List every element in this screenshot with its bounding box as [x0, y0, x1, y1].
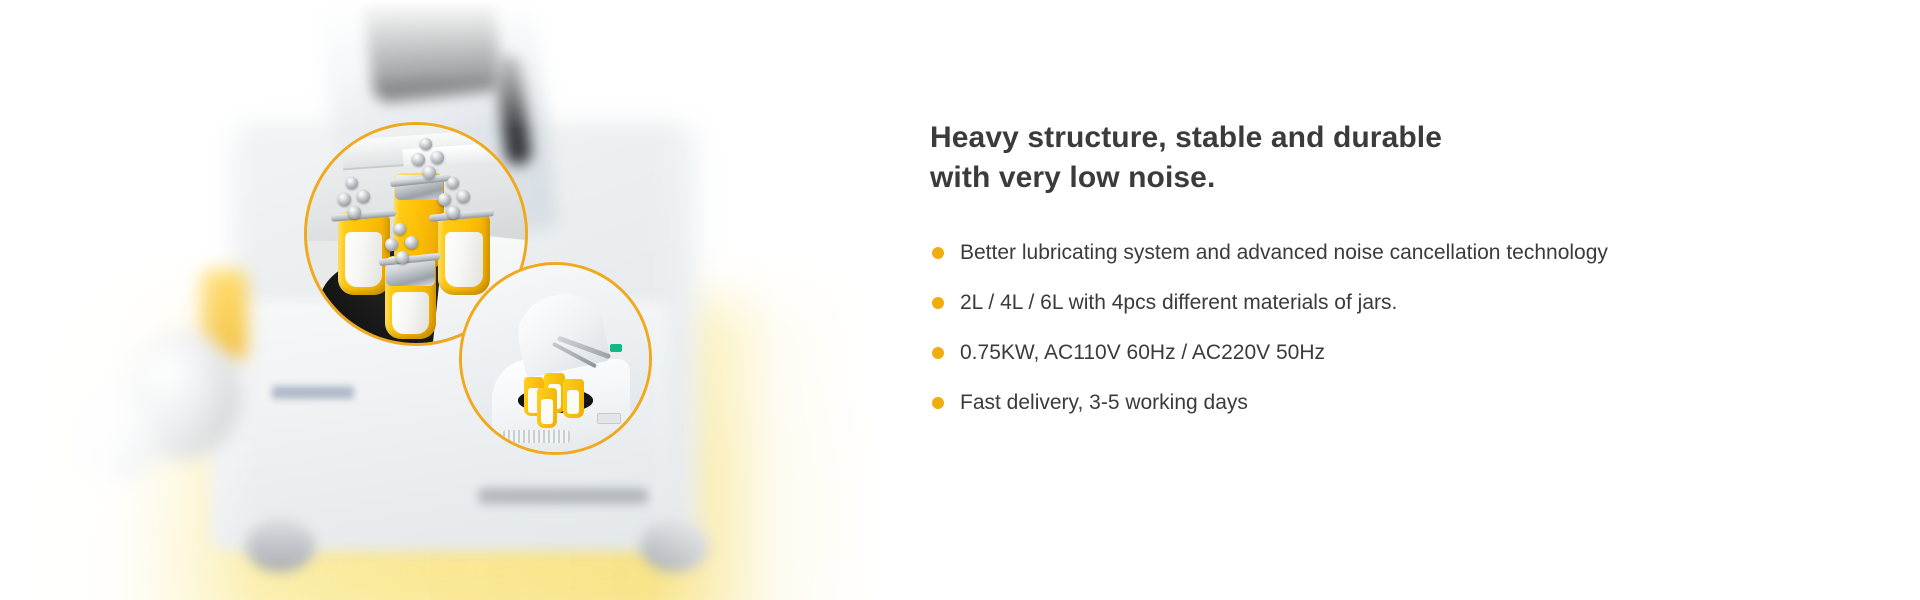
- machine-nameplate: [597, 413, 621, 424]
- clamp-knob-ball: [447, 177, 459, 189]
- machine-ventilation-grille: [503, 430, 570, 443]
- list-item: Fast delivery, 3-5 working days: [930, 386, 1680, 420]
- ceramic-grinding-jar: [392, 292, 428, 333]
- overview-jar-clamp: [537, 388, 558, 427]
- product-feature-banner: Heavy structure, stable and durable with…: [0, 0, 1920, 600]
- machine-knob-blur: [120, 330, 240, 460]
- yellow-floor-blur-secondary: [120, 430, 880, 600]
- bullet-dot-icon: [932, 247, 944, 259]
- clamp-knob-ball: [338, 193, 351, 206]
- list-item: 0.75KW, AC110V 60Hz / AC220V 50Hz: [930, 336, 1680, 370]
- jar-clamp-front: [385, 256, 435, 339]
- photo-fade-top: [0, 0, 880, 130]
- clamp-knob-ball: [447, 206, 460, 219]
- bullet-dot-icon: [932, 347, 944, 359]
- clamp-knob-ball: [412, 153, 425, 166]
- list-item: 2L / 4L / 6L with 4pcs different materia…: [930, 286, 1680, 320]
- machine-foot-right-blur: [640, 520, 710, 572]
- jar-clamp-left: [338, 212, 390, 295]
- headline-line-1: Heavy structure, stable and durable: [930, 118, 1860, 158]
- bullet-dot-icon: [932, 397, 944, 409]
- clamp-knob-ball: [423, 166, 436, 179]
- machine-control-panel-blur: [363, 0, 504, 102]
- page-title: Heavy structure, stable and durable with…: [930, 118, 1860, 198]
- feature-list: Better lubricating system and advanced n…: [930, 236, 1860, 420]
- feature-text: 0.75KW, AC110V 60Hz / AC220V 50Hz: [960, 341, 1325, 364]
- yellow-clamp-blur: [200, 270, 246, 360]
- clamp-knob-ball: [438, 193, 451, 206]
- bullet-dot-icon: [932, 297, 944, 309]
- headline-line-2: with very low noise.: [930, 158, 1860, 198]
- power-indicator-light: [610, 344, 622, 352]
- machine-brand-label-blur: [272, 386, 354, 399]
- feature-text: 2L / 4L / 6L with 4pcs different materia…: [960, 291, 1397, 314]
- product-photo: [0, 0, 880, 600]
- overview-jar-clamp: [563, 379, 584, 418]
- ceramic-grinding-jar: [345, 232, 383, 287]
- clamp-knob-ball: [348, 206, 361, 219]
- feature-text: Better lubricating system and advanced n…: [960, 241, 1608, 264]
- machine-knob-secondary-blur: [78, 388, 158, 480]
- photo-fade-left: [0, 0, 260, 600]
- machine-foot-left-blur: [245, 520, 315, 572]
- feature-text-pane: Heavy structure, stable and durable with…: [880, 0, 1920, 600]
- photo-fade-right: [650, 0, 880, 600]
- callout-full-machine: [459, 262, 652, 455]
- machine-vent-blur: [478, 488, 648, 504]
- list-item: Better lubricating system and advanced n…: [930, 236, 1680, 270]
- feature-text: Fast delivery, 3-5 working days: [960, 391, 1248, 414]
